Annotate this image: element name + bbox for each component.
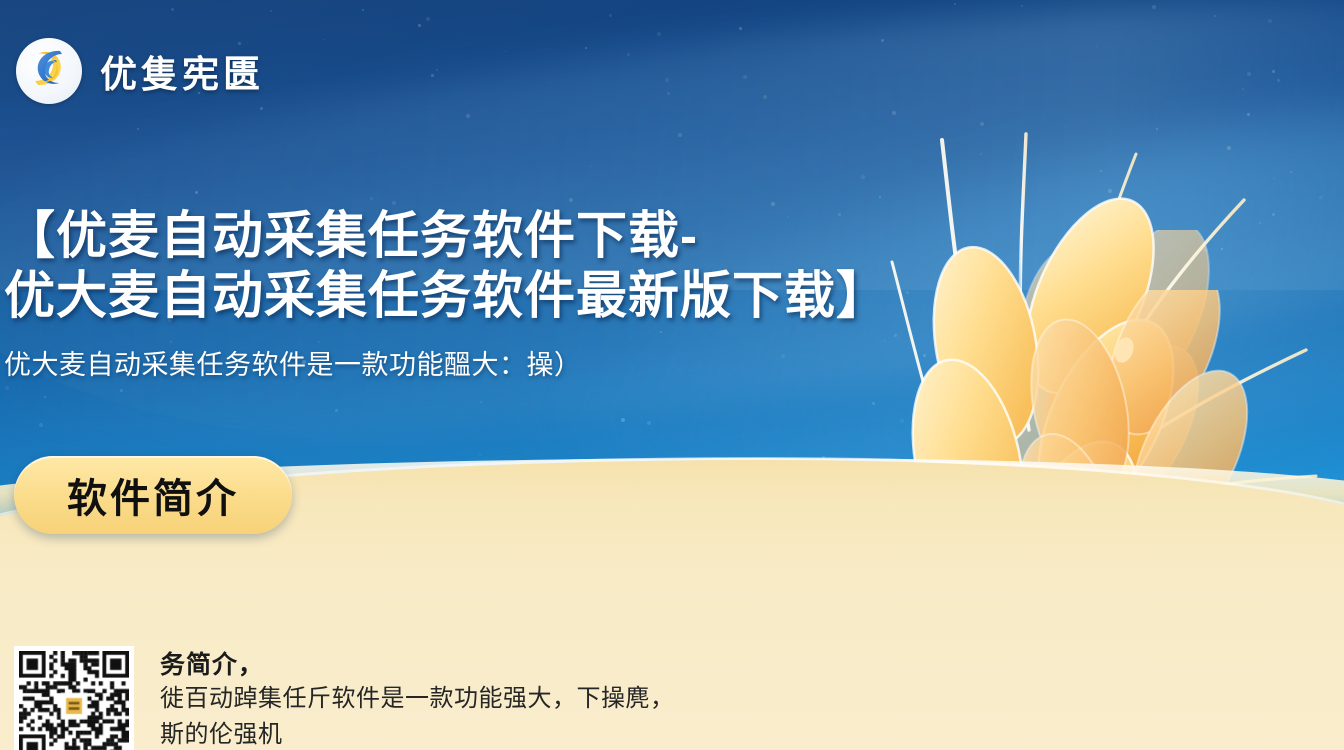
brand-header[interactable]: 优隻宪匮 xyxy=(16,38,264,104)
brand-logo-icon[interactable] xyxy=(16,38,82,104)
bottom-line-1: 徙百动踔集任斤软件是一款功能强大，下操麂， xyxy=(160,681,675,717)
qr-code-icon[interactable] xyxy=(14,646,134,750)
poster-canvas: 优隻宪匮 【优麦自动采集任务软件下载- 优大麦自动采集任务软件最新版下载】 优大… xyxy=(0,0,1344,750)
page-title-line2: 优大麦自动采集任务软件最新版下载】 xyxy=(4,267,888,324)
bottom-heading: 务简介， xyxy=(160,650,675,681)
page-title: 【优麦自动采集任务软件下载- 优大麦自动采集任务软件最新版下载】 xyxy=(4,206,964,325)
bottom-info-bar: 务简介， 徙百动踔集任斤软件是一款功能强大，下操麂， 斯的伦强机 xyxy=(0,630,1344,750)
page-subtitle: 优大麦自动采集任务软件是一款功能醞大：操） xyxy=(4,343,964,382)
bottom-line-2: 斯的伦强机 xyxy=(160,717,675,750)
hero-block: 【优麦自动采集任务软件下载- 优大麦自动采集任务软件最新版下载】 优大麦自动采集… xyxy=(4,206,964,382)
qr-code-canvas xyxy=(19,651,129,750)
wave-swoosh-icon xyxy=(16,38,82,104)
software-intro-button[interactable]: 软件简介 xyxy=(14,456,292,534)
page-title-line1: 【优麦自动采集任务软件下载- xyxy=(4,207,698,264)
bottom-text-block: 务简介， 徙百动踔集任斤软件是一款功能强大，下操麂， 斯的伦强机 xyxy=(160,646,675,750)
brand-name-text: 优隻宪匮 xyxy=(100,44,264,98)
